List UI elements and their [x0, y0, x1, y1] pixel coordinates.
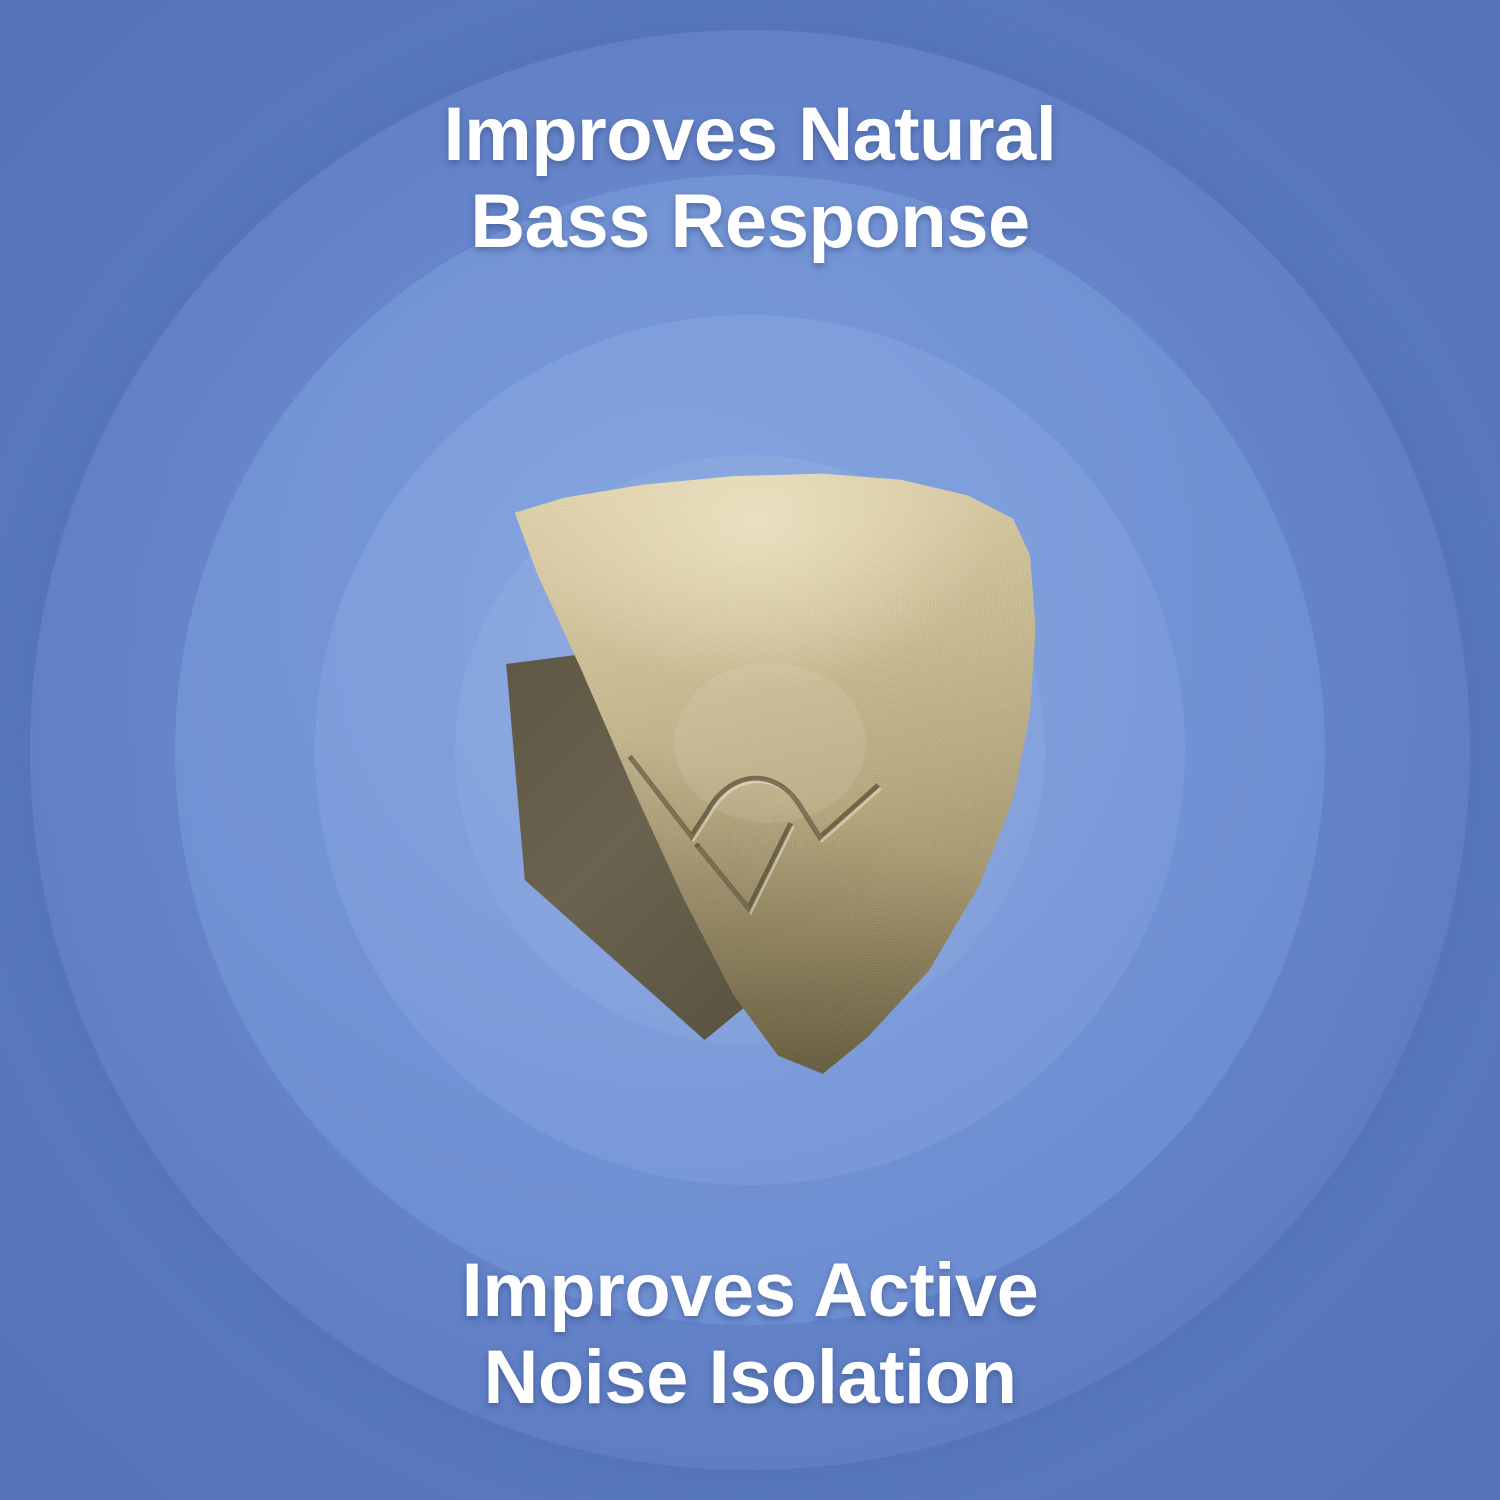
product-image	[498, 470, 1058, 1080]
product-feature-graphic: Improves Natural Bass Response Improves …	[0, 0, 1500, 1500]
headline-top: Improves Natural Bass Response	[0, 92, 1500, 265]
headline-bottom: Improves Active Noise Isolation	[0, 1248, 1500, 1421]
